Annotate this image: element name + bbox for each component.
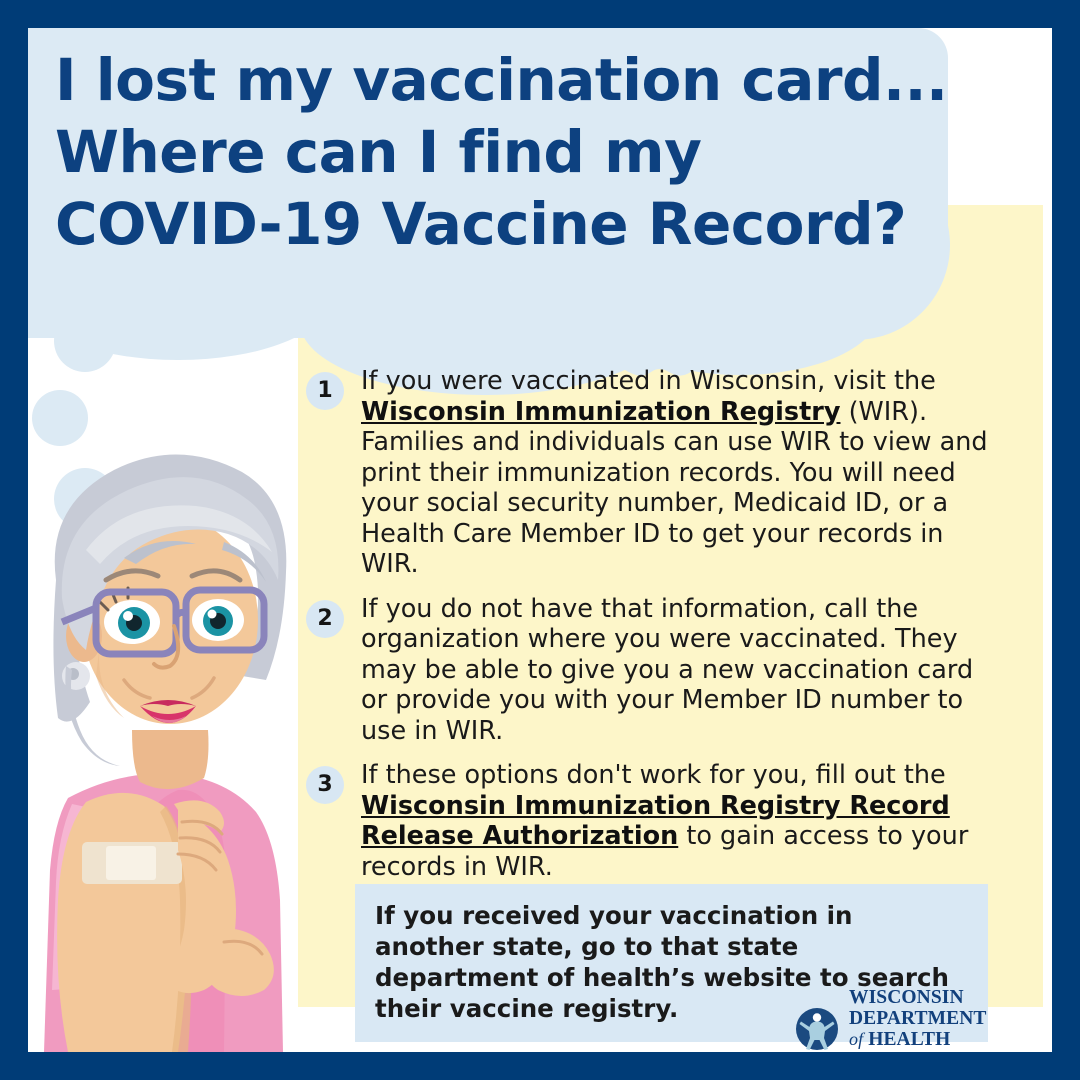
step-text-pre: If you do not have that information, cal… xyxy=(361,594,973,746)
list-item: 3 If these options don't work for you, f… xyxy=(306,760,1006,882)
border-left xyxy=(0,0,28,1080)
step-text: If you were vaccinated in Wisconsin, vis… xyxy=(361,366,1006,580)
step-text-pre: If these options don't work for you, fil… xyxy=(361,760,946,790)
step-text: If you do not have that information, cal… xyxy=(361,594,1006,747)
elderly-woman-illustration xyxy=(28,430,318,1052)
step-number-badge: 2 xyxy=(306,600,344,638)
step-text-pre: If you were vaccinated in Wisconsin, vis… xyxy=(361,366,936,396)
headline-line-1: I lost my vaccination card... xyxy=(55,44,895,116)
border-right xyxy=(1052,0,1080,1080)
step-number-badge: 1 xyxy=(306,372,344,410)
dhs-logo-of: of xyxy=(849,1029,863,1049)
step-number-badge: 3 xyxy=(306,766,344,804)
infographic-poster: I lost my vaccination card... Where can … xyxy=(0,0,1080,1080)
list-item: 2 If you do not have that information, c… xyxy=(306,594,1006,747)
wisconsin-immunization-registry-link[interactable]: Wisconsin Immunization Registry xyxy=(361,397,840,427)
headline-line-2: Where can I find my xyxy=(55,116,895,188)
dhs-person-circle-icon xyxy=(795,1007,839,1051)
step-text: If these options don't work for you, fil… xyxy=(361,760,1006,882)
page-title: I lost my vaccination card... Where can … xyxy=(55,44,895,260)
speech-bubble-dot xyxy=(54,310,116,372)
steps-list: 1 If you were vaccinated in Wisconsin, v… xyxy=(306,366,1006,896)
list-item: 1 If you were vaccinated in Wisconsin, v… xyxy=(306,366,1006,580)
border-bottom xyxy=(0,1052,1080,1080)
border-top xyxy=(0,0,1080,28)
dhs-logo: WISCONSIN DEPARTMENT of HEALTH SERVICES xyxy=(795,1006,1045,1052)
dhs-logo-line-1: WISCONSIN DEPARTMENT xyxy=(849,988,1045,1029)
headline-line-3: COVID-19 Vaccine Record? xyxy=(55,188,895,260)
